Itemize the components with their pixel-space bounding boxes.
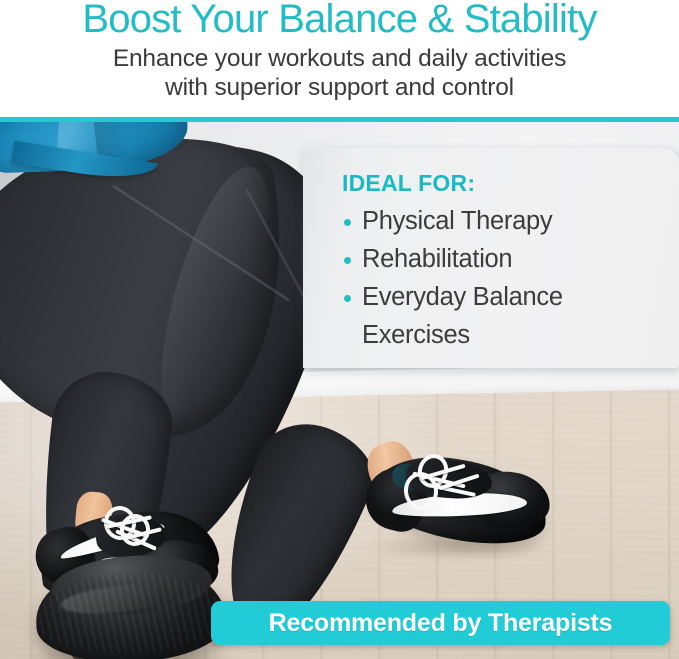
lifestyle-photo: IDEAL FOR: Physical Therapy Rehabilitati… <box>0 122 679 659</box>
subtitle-line-1: Enhance your workouts and daily activiti… <box>113 45 566 72</box>
list-item: Physical Therapy <box>342 202 661 240</box>
header-divider <box>0 117 679 122</box>
page-title: Boost Your Balance & Stability <box>0 0 679 43</box>
subtitle-line-2: with superior support and control <box>0 73 679 102</box>
ideal-for-card: IDEAL FOR: Physical Therapy Rehabilitati… <box>303 148 679 368</box>
product-marketing-image: IDEAL FOR: Physical Therapy Rehabilitati… <box>0 0 679 659</box>
badge-label: Recommended by Therapists <box>269 609 613 637</box>
page-subtitle: Enhance your workouts and daily activiti… <box>0 44 679 102</box>
ideal-for-title: IDEAL FOR: <box>342 170 661 196</box>
header-banner: Boost Your Balance & Stability Enhance y… <box>0 0 679 117</box>
list-item: Rehabilitation <box>342 240 661 278</box>
status-badge: Recommended by Therapists <box>211 601 670 645</box>
ideal-for-list: Physical Therapy Rehabilitation Everyday… <box>342 202 661 354</box>
list-item: Everyday Balance Exercises <box>342 278 661 354</box>
